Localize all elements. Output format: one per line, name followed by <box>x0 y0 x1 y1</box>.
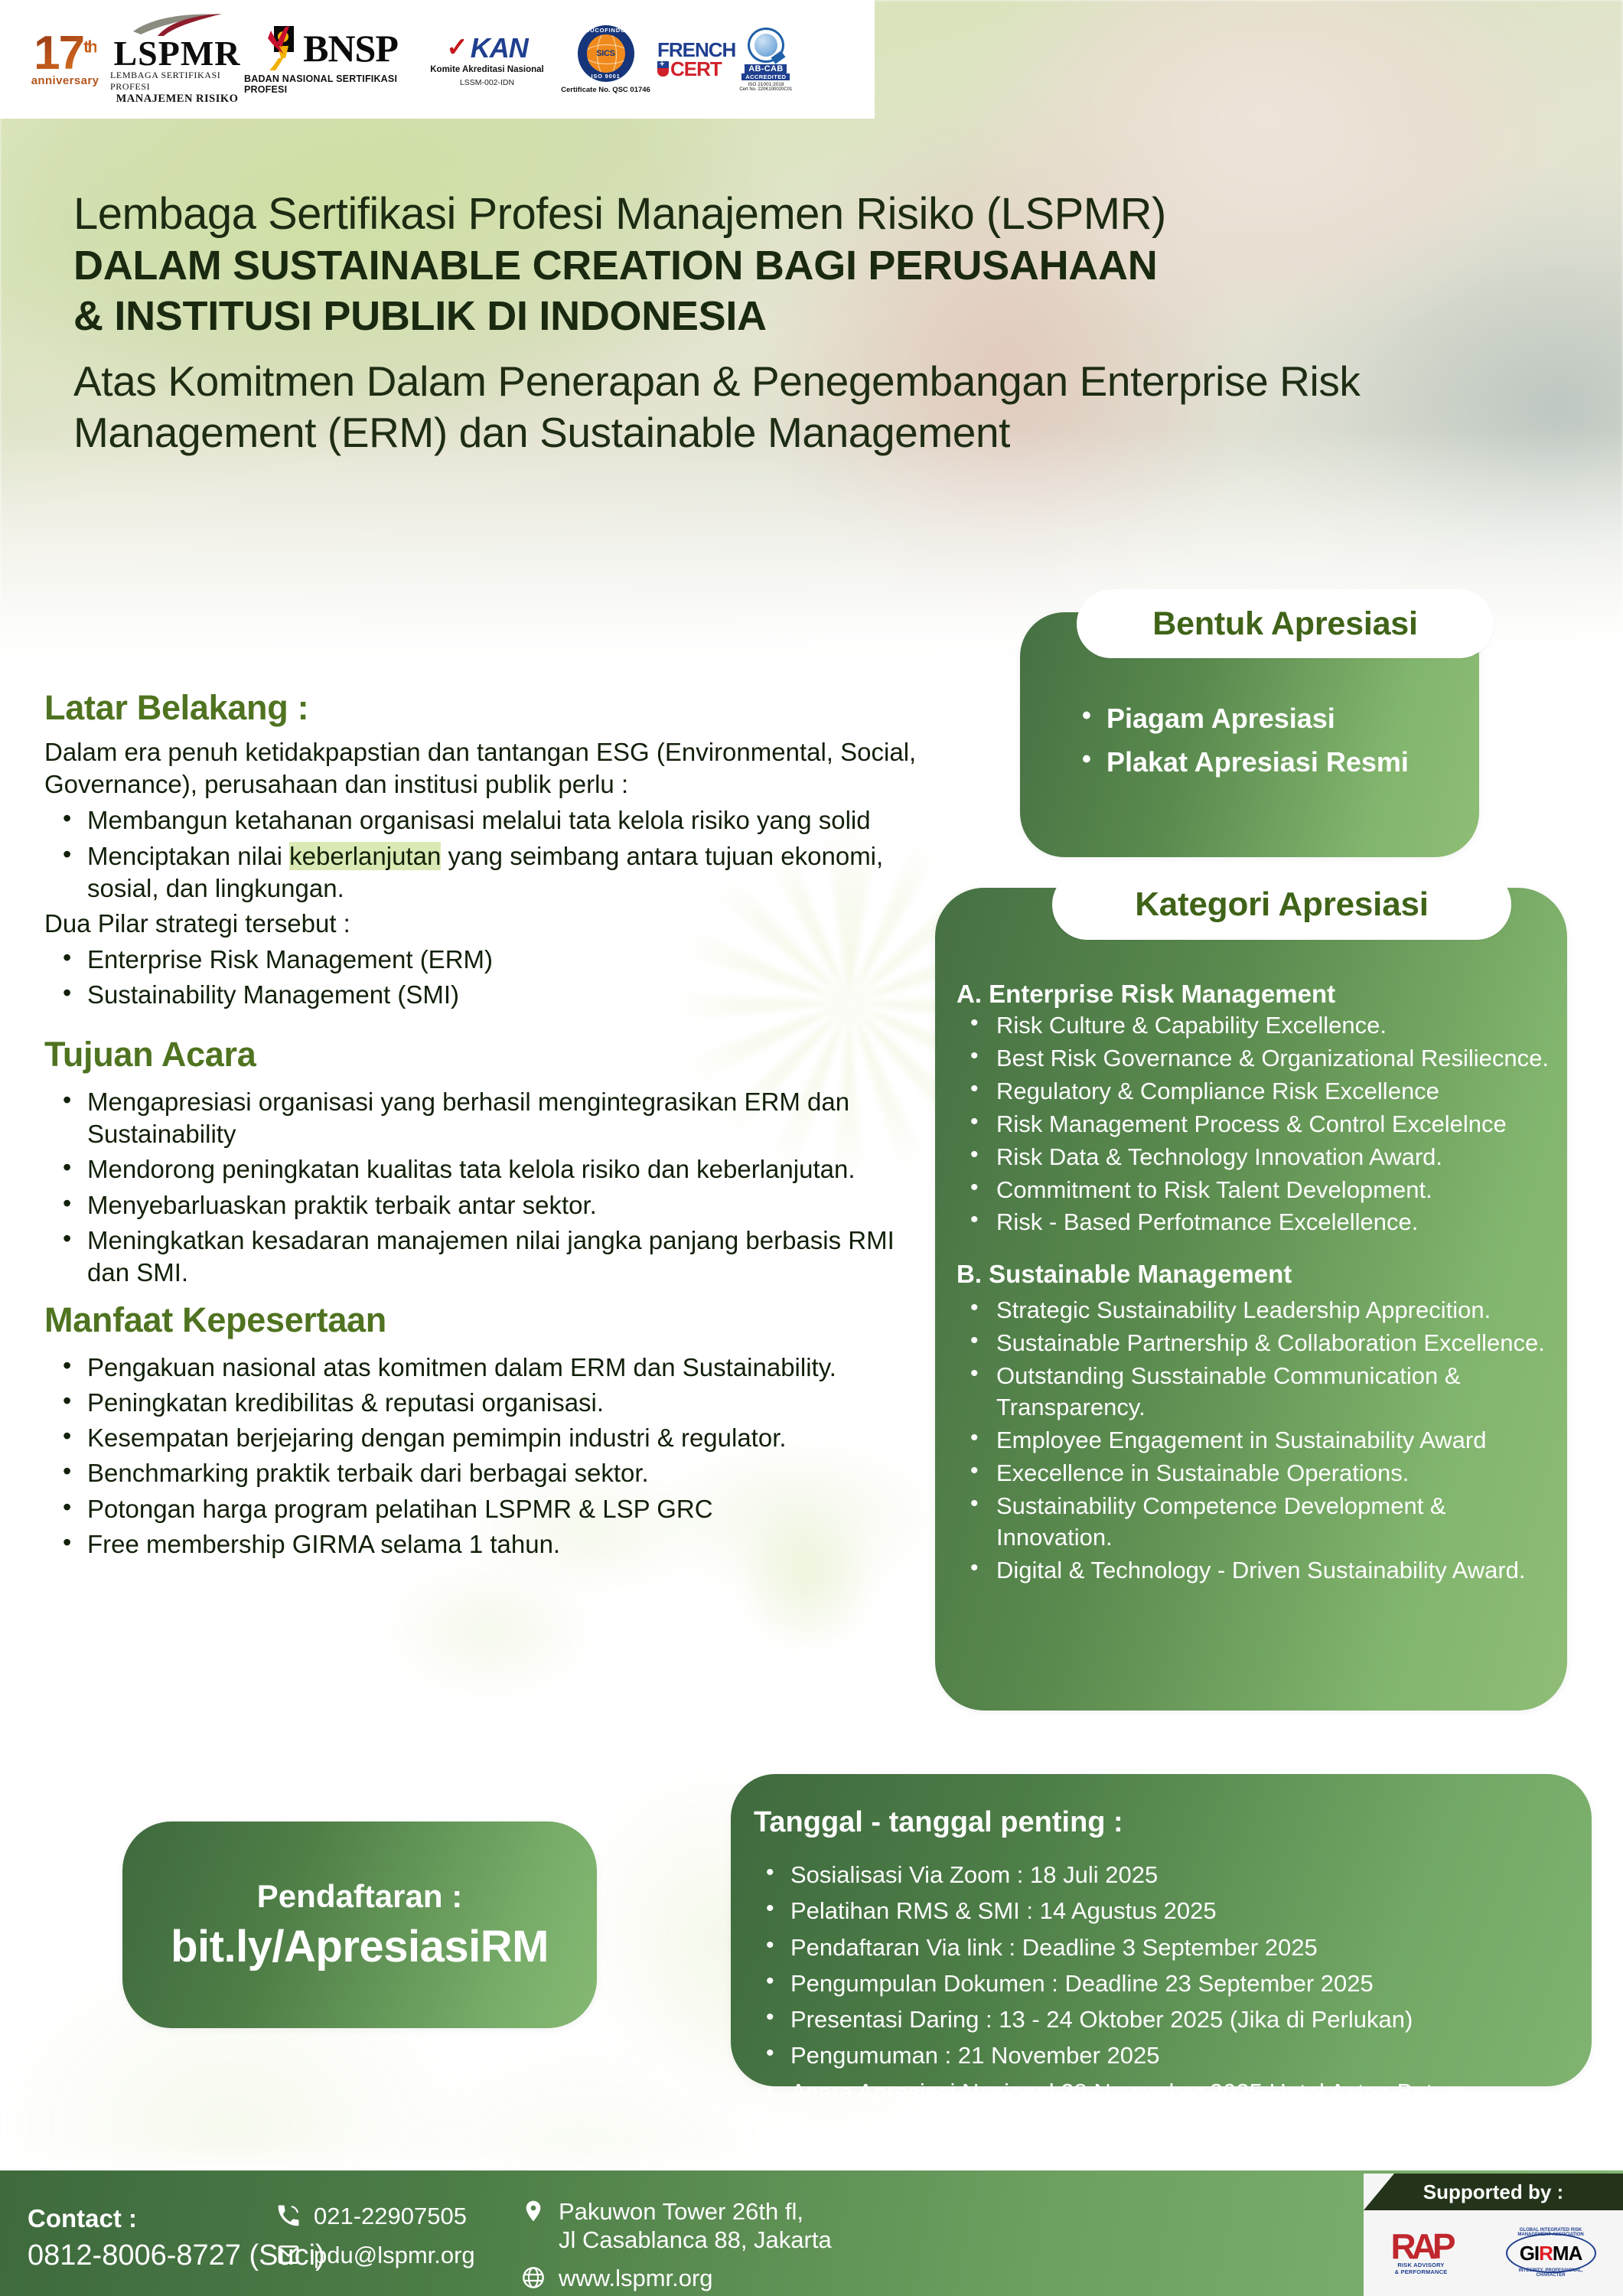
girma-bottom-text: INTEGRITY, PROFESSIONAL, CHARACTER <box>1506 2268 1596 2278</box>
lspmr-sub-2: MANAJEMEN RISIKO <box>116 93 239 106</box>
title-line-subtitle: Atas Komitmen Dalam Penerapan & Penegemb… <box>73 356 1573 458</box>
supported-by-label: Supported by : <box>1364 2174 1623 2210</box>
footer-address-line-1: Pakuwon Tower 26th fl, <box>559 2198 803 2225</box>
footer-address-row: Pakuwon Tower 26th fl, Jl Casablanca 88,… <box>520 2198 832 2254</box>
shield-icon <box>657 61 669 77</box>
kategori-apresiasi-title: Kategori Apresiasi <box>1052 869 1511 940</box>
footer-website-row[interactable]: www.lspmr.org <box>520 2265 832 2293</box>
manfaat-bullets: Pengakuan nasional atas komitmen dalam E… <box>44 1352 928 1561</box>
footer-column-phone-email: 021-22907505 pdu@lspmr.org <box>275 2203 475 2280</box>
girma-top-text: GLOBAL INTEGRATED RISK MANAGEMENT ASSOCI… <box>1506 2228 1596 2237</box>
globe-icon <box>520 2265 546 2291</box>
list-item: Outstanding Susstainable Communication &… <box>957 1361 1561 1424</box>
kategori-apresiasi-body: A. Enterprise Risk Management Risk Cultu… <box>957 980 1561 1588</box>
list-item: Mendorong peningkatan kualitas tata kelo… <box>44 1153 928 1186</box>
sics-top-label: SUCOFINDO <box>578 27 634 34</box>
footer-column-address-web: Pakuwon Tower 26th fl, Jl Casablanca 88,… <box>520 2198 832 2296</box>
list-item: Potongan harga program pelatihan LSPMR &… <box>44 1493 928 1525</box>
girma-logo: GLOBAL INTEGRATED RISK MANAGEMENT ASSOCI… <box>1506 2229 1596 2278</box>
abcab-accreditation-logo: AB-CAB ACCREDITED ISO 21001:2018 Cert No… <box>739 28 792 92</box>
kan-logo: ✓ KAN Komite Akreditasi Nasional LSSM-00… <box>420 32 554 87</box>
title-line-organization: Lembaga Sertifikasi Profesi Manajemen Ri… <box>73 190 1596 239</box>
list-item: Piagam Apresiasi <box>1071 700 1500 738</box>
left-content-column: Latar Belakang : Dalam era penuh ketidak… <box>44 689 928 1564</box>
tujuan-acara-heading: Tujuan Acara <box>44 1035 928 1074</box>
girma-wordmark: GIRMA <box>1520 2242 1582 2265</box>
list-item: Sosialisasi Via Zoom : 18 Juli 2025 <box>754 1860 1580 1890</box>
dua-pilar-label: Dua Pilar strategi tersebut : <box>44 908 928 941</box>
tanggal-penting-heading: Tanggal - tanggal penting : <box>754 1806 1123 1839</box>
bnsp-sub: BADAN NASIONAL SERTIFIKASI PROFESI <box>244 73 420 95</box>
sucofindo-sics-logo: SUCOFINDO SICS ISO 9001 Certificate No. … <box>554 25 657 94</box>
kategori-group-a-heading: A. Enterprise Risk Management <box>957 980 1561 1009</box>
rap-wordmark: RAP <box>1390 2231 1451 2262</box>
list-item: Mengapresiasi organisasi yang berhasil m… <box>44 1086 928 1150</box>
list-item: Peningkatan kredibilitas & reputasi orga… <box>44 1387 928 1419</box>
lspmr-wordmark: LSPMR <box>114 38 241 70</box>
supported-by-box: Supported by : RAP RISK ADVISORY & PERFO… <box>1364 2174 1623 2296</box>
french-cert-logo: FRENCH CERT AB-CAB ACCREDITED ISO 21001:… <box>657 28 799 92</box>
list-item: Plakat Apresiasi Resmi <box>1071 744 1500 781</box>
latar-belakang-intro: Dalam era penuh ketidakpapstian dan tant… <box>44 736 928 802</box>
list-item: Risk Culture & Capability Excellence. <box>957 1010 1561 1042</box>
abcab-iso: ISO 21001:2018 <box>748 82 784 87</box>
list-item: Free membership GIRMA selama 1 tahun. <box>44 1528 928 1561</box>
abcab-accredited-label: ACCREDITED <box>741 73 790 80</box>
list-item: Risk Data & Technology Innovation Award. <box>957 1142 1561 1173</box>
footer-address-line-2: Jl Casablanca 88, Jakarta <box>559 2226 832 2253</box>
list-item: Regulatory & Compliance Risk Excellence <box>957 1076 1561 1107</box>
latar-belakang-heading: Latar Belakang : <box>44 689 928 727</box>
kategori-group-b-heading: B. Sustainable Management <box>957 1260 1561 1289</box>
kan-sub: Komite Akreditasi Nasional <box>430 65 543 74</box>
pendaftaran-panel[interactable]: Pendaftaran : bit.ly/ApresiasiRM <box>122 1821 597 2028</box>
rap-logo: RAP RISK ADVISORY & PERFORMANCE <box>1390 2231 1451 2275</box>
footer-website: www.lspmr.org <box>559 2265 713 2293</box>
pendaftaran-link[interactable]: bit.ly/ApresiasiRM <box>171 1921 549 1972</box>
poster-title-block: Lembaga Sertifikasi Profesi Manajemen Ri… <box>73 190 1596 458</box>
kategori-group-a-list: Risk Culture & Capability Excellence. Be… <box>957 1010 1561 1238</box>
sics-certificate-number: Certificate No. QSC 01746 <box>561 86 650 94</box>
sics-seal-icon: SUCOFINDO SICS ISO 9001 <box>578 25 634 82</box>
kan-code: LSSM-002-IDN <box>460 78 514 87</box>
list-item: Membangun ketahanan organisasi melalui t… <box>44 804 928 837</box>
list-item: Enterprise Risk Management (ERM) <box>44 944 928 976</box>
anniversary-label: anniversary <box>31 74 99 87</box>
kategori-group-b-list: Strategic Sustainability Leadership Appr… <box>957 1295 1561 1586</box>
lspmr-swoosh-icon <box>132 13 223 36</box>
tanggal-penting-list: Sosialisasi Via Zoom : 18 Juli 2025 Pela… <box>754 1860 1580 2113</box>
list-item: Sustainability Management (SMI) <box>44 979 928 1011</box>
list-item: Meningkatkan kesadaran manajemen nilai j… <box>44 1225 928 1289</box>
list-item: Digital & Technology - Driven Sustainabi… <box>957 1555 1561 1587</box>
list-item: Presentasi Daring : 13 - 24 Oktober 2025… <box>754 2004 1580 2035</box>
rap-sub: RISK ADVISORY & PERFORMANCE <box>1395 2262 1448 2275</box>
envelope-icon <box>275 2242 301 2268</box>
list-item: Commitment to Risk Talent Development. <box>957 1175 1561 1206</box>
bnsp-mark-icon <box>266 24 300 72</box>
kan-check-icon: ✓ <box>446 39 468 57</box>
sics-bottom-label: ISO 9001 <box>578 73 634 80</box>
manfaat-heading: Manfaat Kepesertaan <box>44 1301 928 1339</box>
lspmr-logo: LSPMR LEMBAGA SERTIFIKASI PROFESI MANAJE… <box>110 13 244 106</box>
anniversary-logo: 17th anniversary <box>20 31 110 86</box>
tujuan-acara-bullets: Mengapresiasi organisasi yang berhasil m… <box>44 1086 928 1289</box>
list-item: Menyebarluaskan praktik terbaik antar se… <box>44 1189 928 1221</box>
footer-email: pdu@lspmr.org <box>314 2242 475 2270</box>
bentuk-apresiasi-title: Bentuk Apresiasi <box>1077 589 1494 658</box>
list-item: Pengakuan nasional atas komitmen dalam E… <box>44 1352 928 1384</box>
header-logo-strip: 17th anniversary LSPMR LEMBAGA SERTIFIKA… <box>0 0 875 119</box>
bentuk-apresiasi-list: Piagam Apresiasi Plakat Apresiasi Resmi <box>1071 700 1500 787</box>
location-pin-icon <box>520 2198 546 2224</box>
pendaftaran-label: Pendaftaran : <box>257 1878 462 1915</box>
list-item: Execellence in Sustainable Operations. <box>957 1458 1561 1489</box>
list-item: Employee Engagement in Sustainability Aw… <box>957 1425 1561 1456</box>
abcab-cert-no: Cert No. 220K100020C01 <box>739 87 792 92</box>
french-wordmark: FRENCH <box>657 41 735 60</box>
list-item: Risk Management Process & Control Excele… <box>957 1109 1561 1140</box>
title-line-main-b: & INSTITUSI PUBLIK DI INDONESIA <box>73 292 1596 341</box>
sics-mid-label: SICS <box>596 49 614 58</box>
rap-sub-2: & PERFORMANCE <box>1395 2268 1448 2275</box>
list-item: Sustainability Competence Development & … <box>957 1491 1561 1554</box>
supporter-logos: RAP RISK ADVISORY & PERFORMANCE GLOBAL I… <box>1364 2215 1623 2291</box>
list-item: Strategic Sustainability Leadership Appr… <box>957 1295 1561 1326</box>
list-item: Menciptakan nilai keberlanjutan yang sei… <box>44 840 928 905</box>
list-item: Sustainable Partnership & Collaboration … <box>957 1328 1561 1359</box>
list-item: Pengumpulan Dokumen : Deadline 23 Septem… <box>754 1968 1580 1999</box>
list-item: Acara Apresiasi Nasional 28 November 202… <box>754 2077 1580 2108</box>
list-item: Benchmarking praktik terbaik dari berbag… <box>44 1457 928 1489</box>
abcab-label: AB-CAB <box>745 64 787 73</box>
list-item: Risk - Based Perfotmance Excelellence. <box>957 1207 1561 1238</box>
list-item: Kesempatan berjejaring dengan pemimpin i… <box>44 1422 928 1454</box>
latar-belakang-bullets: Membangun ketahanan organisasi melalui t… <box>44 804 928 905</box>
bnsp-logo: BNSP BADAN NASIONAL SERTIFIKASI PROFESI <box>244 24 420 95</box>
lspmr-sub-1: LEMBAGA SERTIFIKASI PROFESI <box>110 70 244 93</box>
title-line-main-a: DALAM SUSTAINABLE CREATION BAGI PERUSAHA… <box>73 242 1596 290</box>
poster-root: 17th anniversary LSPMR LEMBAGA SERTIFIKA… <box>0 0 1623 2296</box>
list-item: Pendaftaran Via link : Deadline 3 Septem… <box>754 1932 1580 1963</box>
list-item: Best Risk Governance & Organizational Re… <box>957 1043 1561 1075</box>
abcab-q-icon <box>748 28 784 63</box>
anniversary-number: 17th <box>34 31 96 75</box>
footer-email-row[interactable]: pdu@lspmr.org <box>275 2242 475 2270</box>
cert-wordmark: CERT <box>657 60 722 79</box>
bnsp-wordmark: BNSP <box>303 29 398 67</box>
list-item: Pengumuman : 21 November 2025 <box>754 2040 1580 2071</box>
footer-phone-row[interactable]: 021-22907505 <box>275 2203 475 2231</box>
footer-phone: 021-22907505 <box>314 2203 467 2231</box>
footer-address: Pakuwon Tower 26th fl, Jl Casablanca 88,… <box>559 2198 832 2254</box>
phone-icon <box>275 2203 301 2229</box>
kan-wordmark: KAN <box>471 32 528 64</box>
list-item: Pelatihan RMS & SMI : 14 Agustus 2025 <box>754 1896 1580 1926</box>
dua-pilar-bullets: Enterprise Risk Management (ERM) Sustain… <box>44 944 928 1011</box>
